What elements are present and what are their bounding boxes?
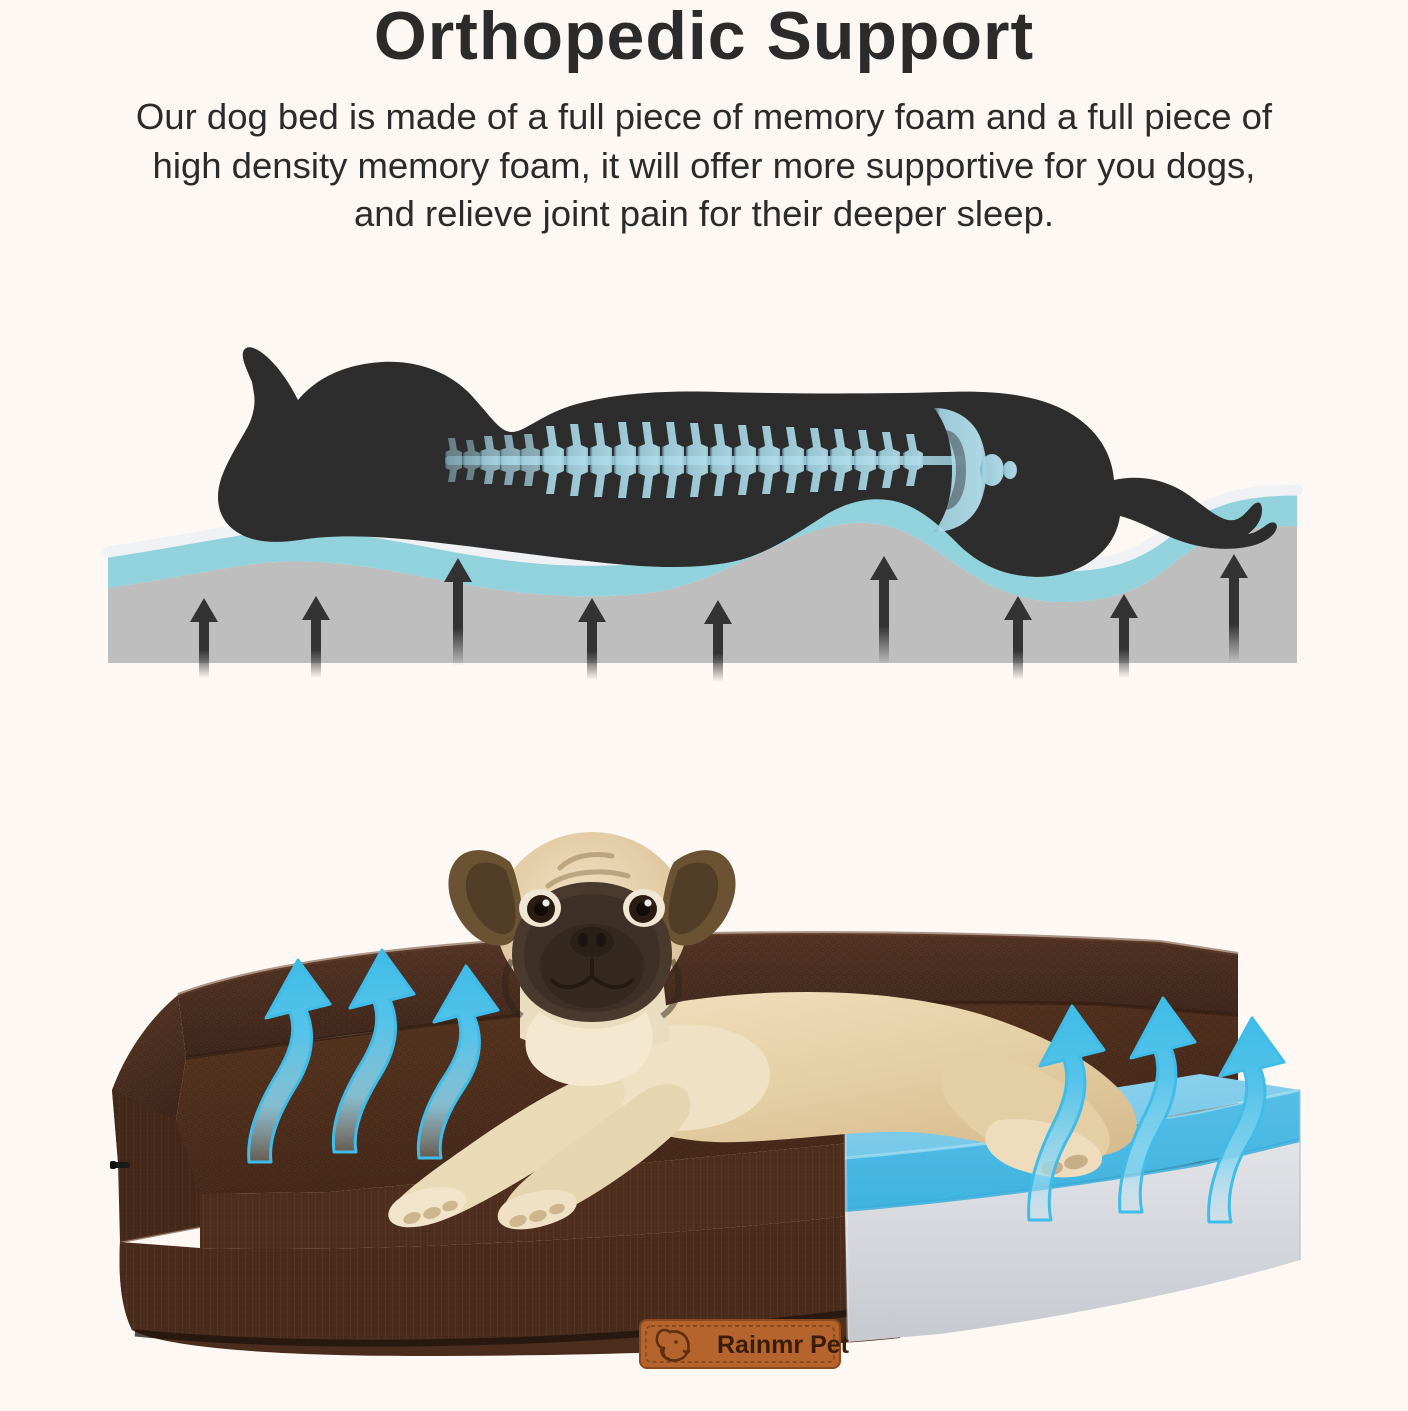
product-photo: Rainmr Pet — [0, 790, 1408, 1411]
description-line-3: and relieve joint pain for their deeper … — [14, 190, 1394, 239]
orthopedic-support-diagram — [0, 330, 1408, 750]
description-line-2: high density memory foam, it will offer … — [14, 142, 1394, 191]
brand-label-text: Rainmr Pet — [717, 1331, 850, 1359]
brand-label: Rainmr Pet — [640, 1320, 850, 1368]
header: Orthopedic Support Our dog bed is made o… — [0, 0, 1408, 239]
description-line-1: Our dog bed is made of a full piece of m… — [14, 93, 1394, 142]
zipper-pull[interactable] — [110, 1161, 130, 1169]
page-title: Orthopedic Support — [0, 2, 1408, 71]
page-description: Our dog bed is made of a full piece of m… — [0, 93, 1408, 239]
